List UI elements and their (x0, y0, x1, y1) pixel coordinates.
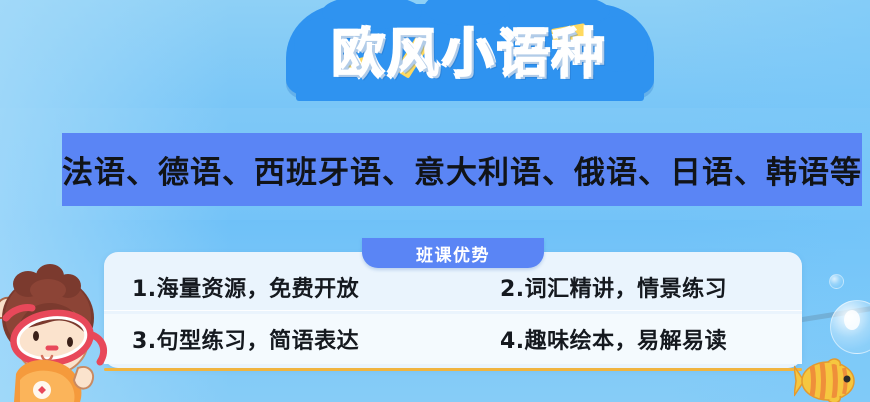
advantages-card: 1.海量资源，免费开放 2.词汇精讲，情景练习 3.句型练习，简语表达 4.趣味… (104, 252, 802, 368)
advantages-card-underline (104, 368, 802, 371)
advantage-item-1: 1.海量资源，免费开放 (132, 271, 359, 303)
advantages-row-1: 1.海量资源，免费开放 2.词汇精讲，情景练习 (104, 262, 802, 312)
diver-girl-icon (0, 256, 114, 402)
advantage-item-3: 3.句型练习，简语表达 (132, 323, 359, 355)
bubble-small-icon (829, 274, 844, 289)
section-badge: 班课优势 (362, 238, 544, 268)
title-banner: 欧风小语种 (286, 4, 654, 96)
language-list-text: 法语、德语、西班牙语、意大利语、俄语、日语、韩语等 (62, 147, 862, 192)
advantage-item-4: 4.趣味绘本，易解易读 (500, 323, 727, 355)
bubble-icon (830, 300, 870, 354)
section-badge-label: 班课优势 (416, 241, 490, 266)
tropical-fish-icon (794, 358, 860, 402)
advantages-divider (104, 310, 802, 311)
page-title: 欧风小语种 (286, 4, 654, 96)
poster-canvas: 欧风小语种 法语、德语、西班牙语、意大利语、俄语、日语、韩语等 班课优势 1.海… (0, 0, 870, 402)
advantage-item-2: 2.词汇精讲，情景练习 (500, 271, 727, 303)
language-list-bar: 法语、德语、西班牙语、意大利语、俄语、日语、韩语等 (62, 133, 862, 206)
advantages-row-2: 3.句型练习，简语表达 4.趣味绘本，易解易读 (104, 314, 802, 364)
